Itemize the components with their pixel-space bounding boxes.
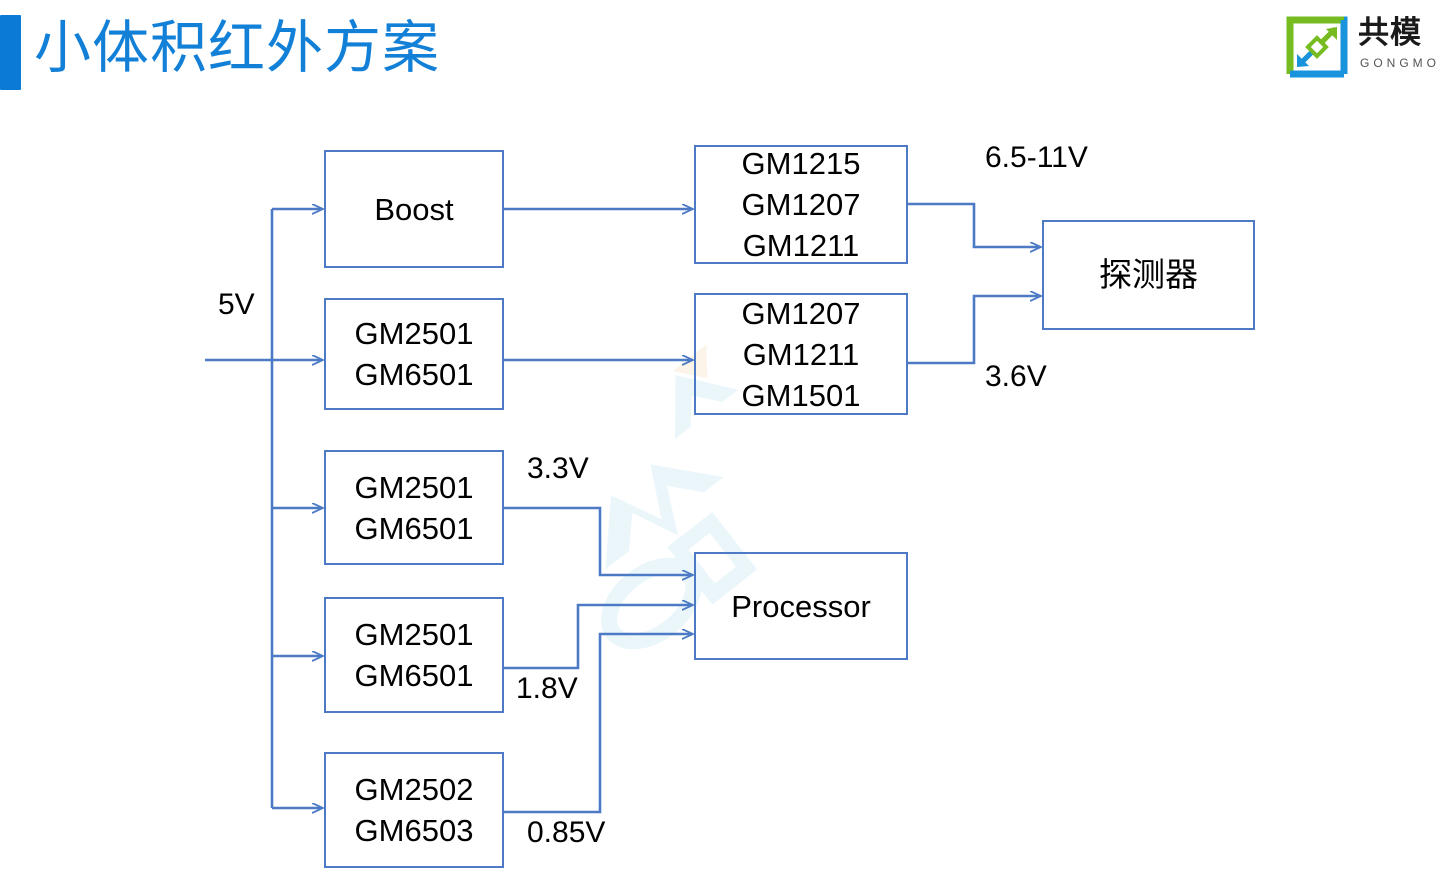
slide-canvas: 小体积红外方案 共模 GONGMO — [0, 0, 1444, 891]
node-reg1-line-0: GM2501 — [355, 313, 474, 354]
node-reg3-line-1: GM6501 — [355, 655, 474, 696]
voltage-label-input: 5V — [218, 288, 255, 322]
node-ldo-high-line-0: GM1215 — [742, 143, 861, 184]
node-ldo-high[interactable]: GM1215 GM1207 GM1211 — [694, 145, 908, 264]
node-ldo-high-line-2: GM1211 — [743, 225, 860, 266]
voltage-label-detector-high: 6.5-11V — [985, 141, 1088, 175]
node-detector[interactable]: 探测器 — [1042, 220, 1255, 330]
voltage-label-detector-low: 3.6V — [985, 360, 1047, 394]
node-boost[interactable]: Boost — [324, 150, 504, 268]
node-reg4-line-1: GM6503 — [355, 810, 474, 851]
node-ldo-low[interactable]: GM1207 GM1211 GM1501 — [694, 293, 908, 415]
node-ldo-high-line-1: GM1207 — [742, 184, 861, 225]
node-reg2-line-0: GM2501 — [355, 467, 474, 508]
node-ldo-low-line-1: GM1211 — [743, 334, 860, 375]
node-processor-line-0: Processor — [731, 586, 871, 627]
voltage-label-rail-085: 0.85V — [527, 816, 605, 850]
node-reg4[interactable]: GM2502 GM6503 — [324, 752, 504, 868]
node-detector-line-0: 探测器 — [1099, 254, 1198, 296]
node-reg2[interactable]: GM2501 GM6501 — [324, 450, 504, 565]
node-reg2-line-1: GM6501 — [355, 508, 474, 549]
node-ldo-low-line-2: GM1501 — [742, 375, 861, 416]
node-reg3[interactable]: GM2501 GM6501 — [324, 597, 504, 713]
voltage-label-rail-18: 1.8V — [516, 672, 578, 706]
node-boost-line-0: Boost — [374, 189, 453, 230]
block-diagram: 5V 6.5-11V 3.6V 3.3V 1.8V 0.85V Boost GM… — [0, 0, 1444, 891]
node-ldo-low-line-0: GM1207 — [742, 293, 861, 334]
node-reg1-line-1: GM6501 — [355, 354, 474, 395]
node-processor[interactable]: Processor — [694, 552, 908, 660]
wire-layer — [0, 0, 1444, 891]
node-reg4-line-0: GM2502 — [355, 769, 474, 810]
node-reg1[interactable]: GM2501 GM6501 — [324, 298, 504, 410]
voltage-label-rail-33: 3.3V — [527, 452, 589, 486]
node-reg3-line-0: GM2501 — [355, 614, 474, 655]
